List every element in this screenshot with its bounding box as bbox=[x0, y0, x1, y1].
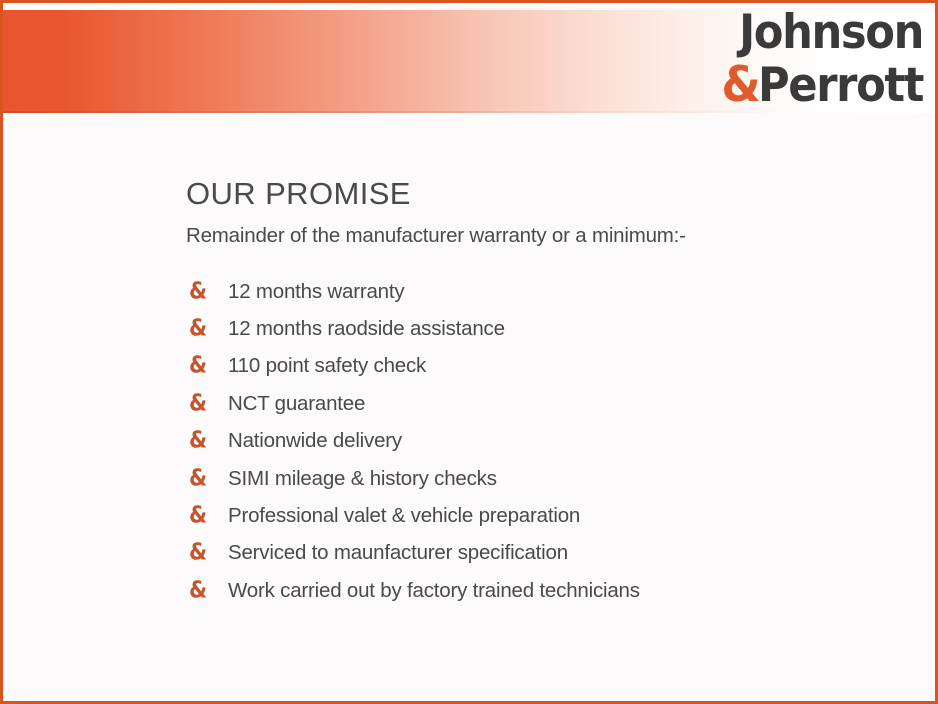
list-item-label: 12 months warranty bbox=[228, 280, 404, 304]
promise-list: & 12 months warranty & 12 months raodsid… bbox=[186, 273, 906, 610]
promise-page: Johnson &Perrott OUR PROMISE Remainder o… bbox=[0, 0, 938, 704]
list-item: & 12 months raodside assistance bbox=[186, 310, 906, 347]
list-item-label: Serviced to maunfacturer specification bbox=[228, 541, 568, 565]
list-item: & NCT guarantee bbox=[186, 385, 906, 422]
ampersand-bullet-icon: & bbox=[189, 280, 207, 303]
ampersand-bullet-icon: & bbox=[189, 467, 207, 490]
ampersand-icon: & bbox=[721, 56, 758, 113]
list-item-label: 110 point safety check bbox=[228, 354, 426, 378]
ampersand-bullet-icon: & bbox=[189, 355, 207, 378]
list-item: & 110 point safety check bbox=[186, 348, 906, 385]
list-item: & Professional valet & vehicle preparati… bbox=[186, 497, 906, 534]
content-area: OUR PROMISE Remainder of the manufacture… bbox=[186, 175, 906, 610]
subtitle-text: Remainder of the manufacturer warranty o… bbox=[186, 223, 906, 249]
logo-second-line: &Perrott bbox=[713, 59, 923, 112]
list-item-label: SIMI mileage & history checks bbox=[228, 467, 497, 491]
list-item-label: Professional valet & vehicle preparation bbox=[228, 504, 580, 528]
ampersand-bullet-icon: & bbox=[189, 430, 207, 453]
list-item-label: 12 months raodside assistance bbox=[228, 317, 505, 341]
ampersand-bullet-icon: & bbox=[189, 505, 207, 528]
johnson-perrott-logo: Johnson &Perrott bbox=[695, 7, 923, 111]
ampersand-bullet-icon: & bbox=[189, 579, 207, 602]
list-item: & Nationwide delivery bbox=[186, 423, 906, 460]
logo-text-johnson: Johnson bbox=[713, 7, 923, 59]
list-item: & 12 months warranty bbox=[186, 273, 906, 310]
page-title: OUR PROMISE bbox=[186, 175, 906, 213]
list-item-label: NCT guarantee bbox=[228, 392, 365, 416]
list-item: & Work carried out by factory trained te… bbox=[186, 572, 906, 609]
logo-text-perrott: Perrott bbox=[758, 58, 923, 113]
ampersand-bullet-icon: & bbox=[189, 542, 207, 565]
list-item-label: Nationwide delivery bbox=[228, 429, 402, 453]
list-item-label: Work carried out by factory trained tech… bbox=[228, 579, 640, 603]
ampersand-bullet-icon: & bbox=[189, 392, 207, 415]
list-item: & Serviced to maunfacturer specification bbox=[186, 535, 906, 572]
ampersand-bullet-icon: & bbox=[189, 318, 207, 341]
list-item: & SIMI mileage & history checks bbox=[186, 460, 906, 497]
